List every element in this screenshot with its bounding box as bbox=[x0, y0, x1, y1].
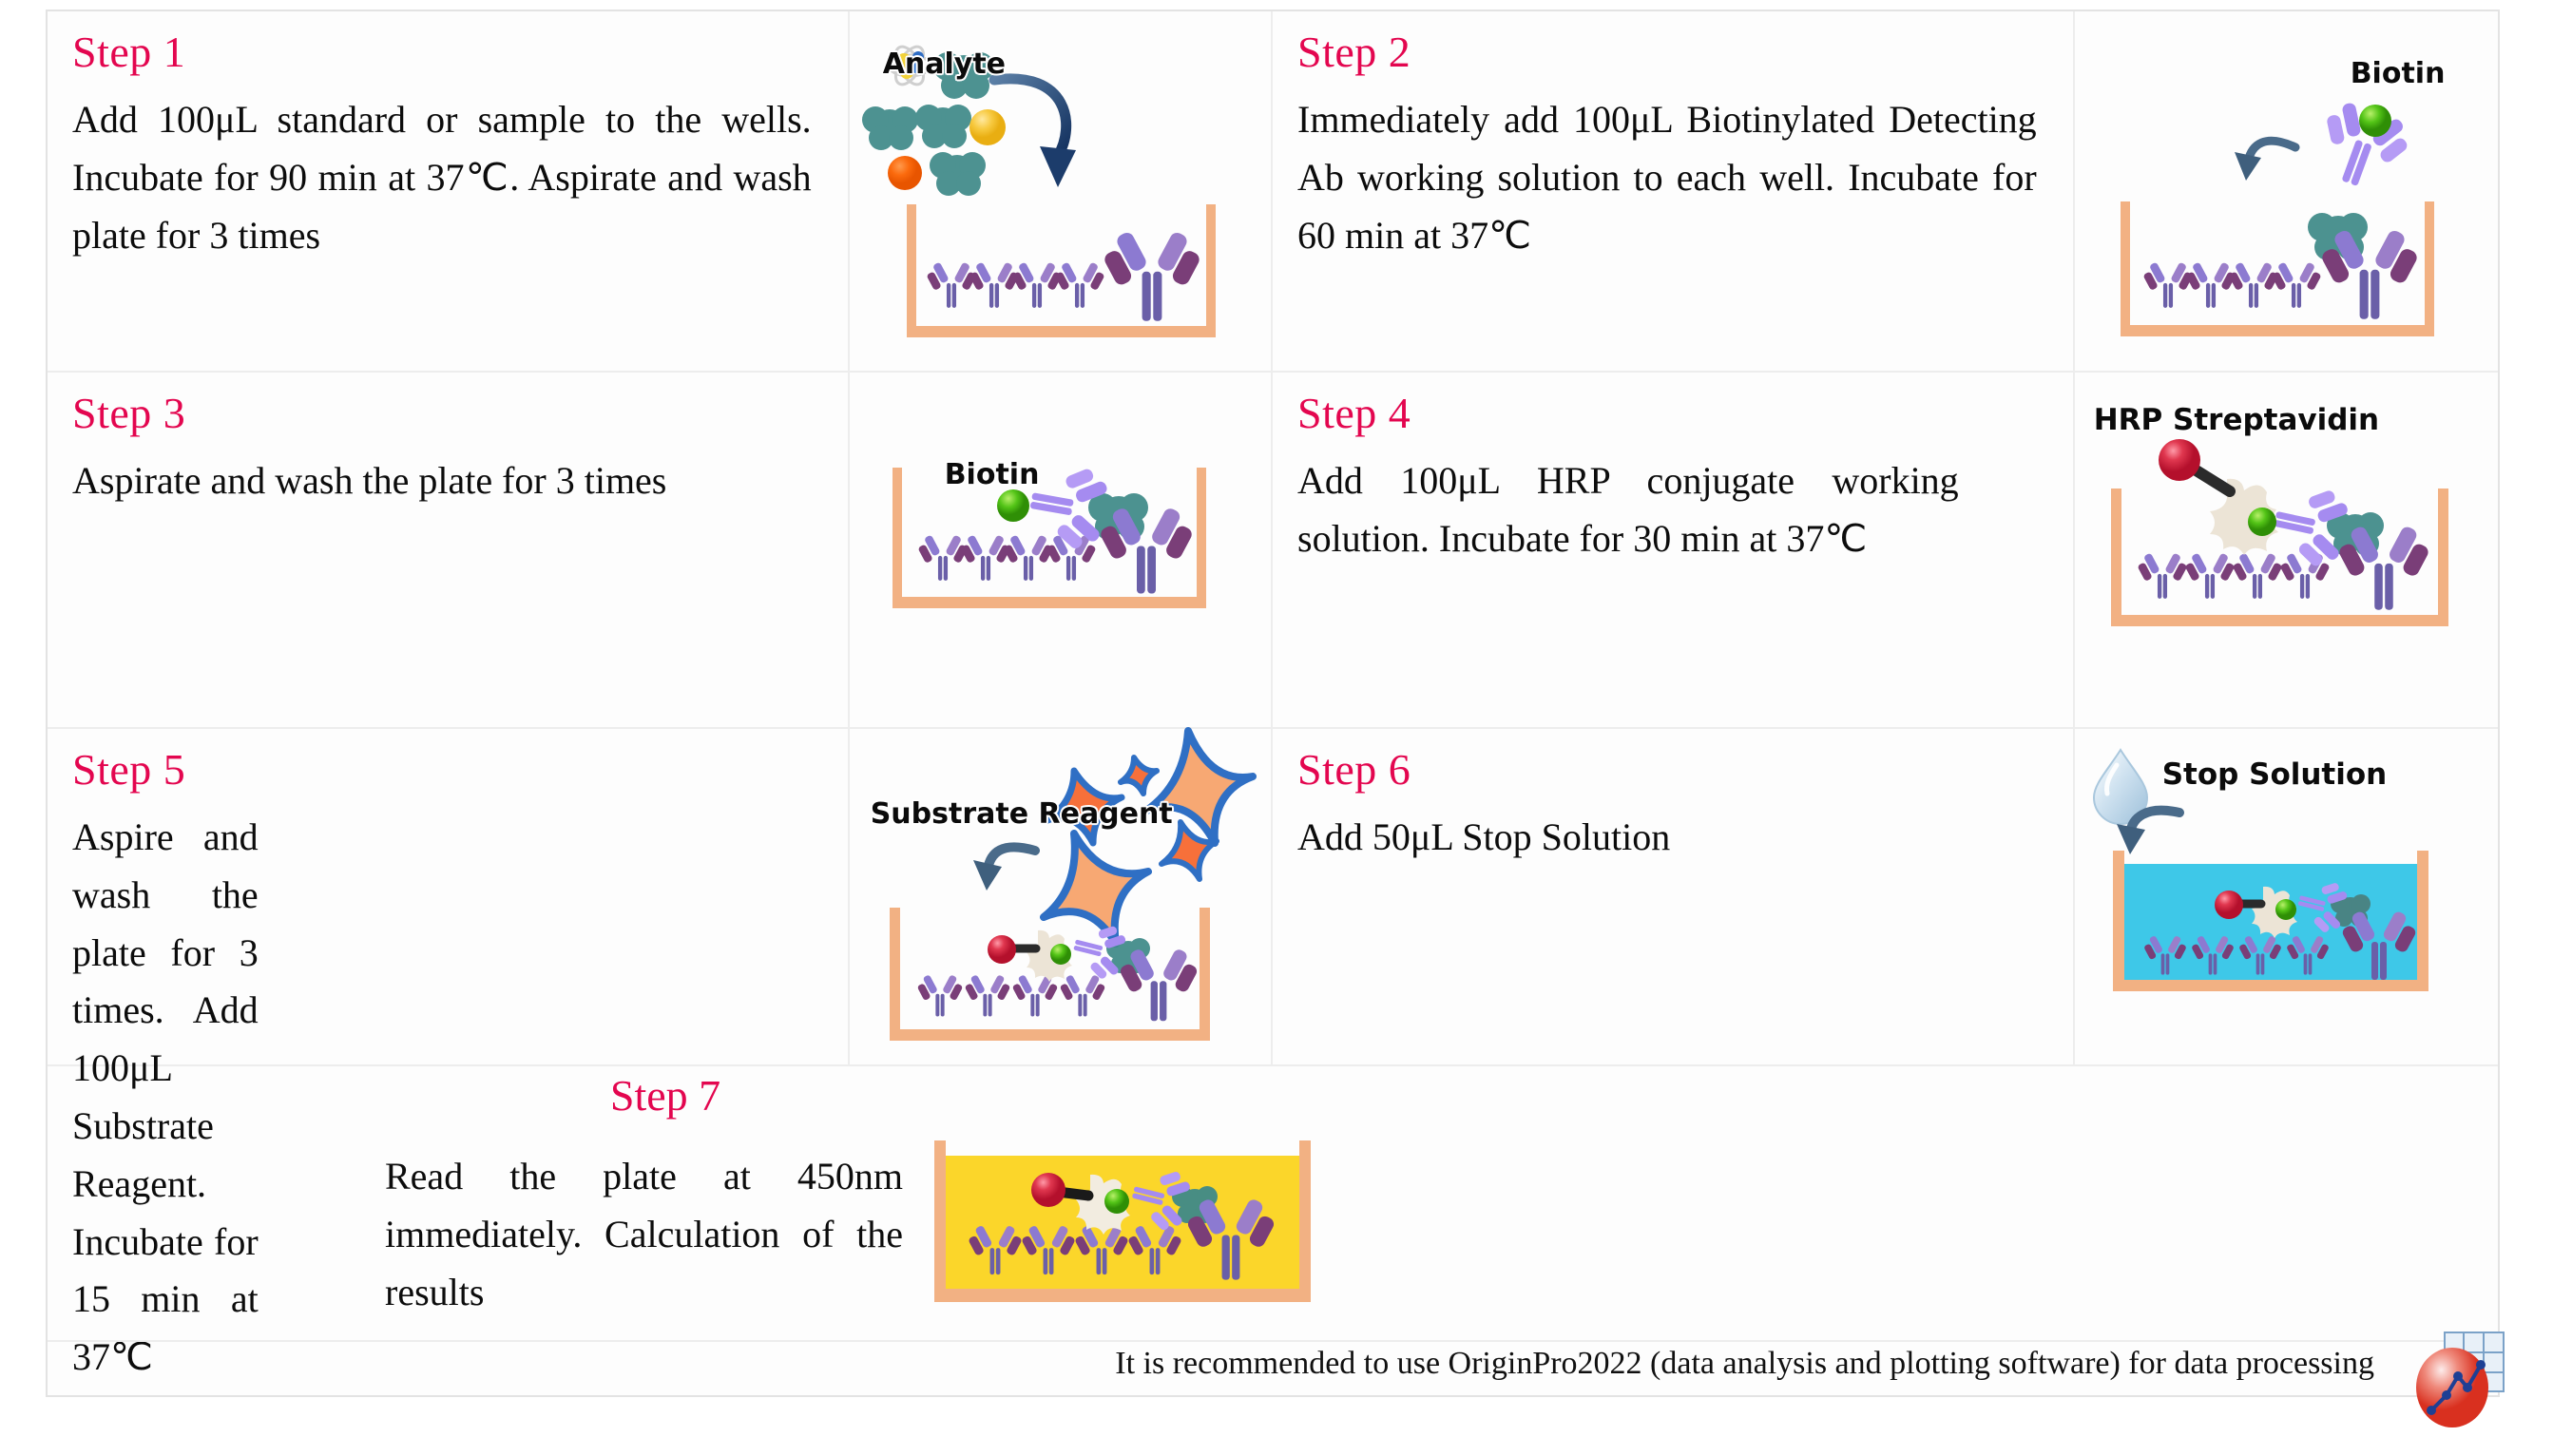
biotin-sphere bbox=[2359, 105, 2391, 137]
hrp-sphere bbox=[988, 935, 1016, 964]
biotin-label: Biotin bbox=[2351, 57, 2446, 90]
step-3-body: Aspirate and wash the plate for 3 times bbox=[72, 452, 812, 510]
steps-row-1: Step 1 Add 100μL standard or sample to t… bbox=[48, 11, 2498, 373]
step-1-illustration-cell: Analyte bbox=[850, 11, 1273, 371]
capture-antibody-row bbox=[2142, 261, 2321, 307]
step-7-title: Step 7 bbox=[48, 1070, 1283, 1121]
stop-solution-illustration: Stop Solution bbox=[2075, 729, 2498, 1064]
capture-antibody-large bbox=[1102, 230, 1201, 321]
yellow-sphere bbox=[969, 109, 1006, 145]
step-4-illustration-cell: HRP Streptavidin bbox=[2075, 373, 2498, 727]
step-7-illustration bbox=[927, 1125, 1131, 1225]
capture-antibody-row bbox=[2137, 552, 2330, 598]
biotin-bound-illustration: Biotin bbox=[850, 373, 1271, 727]
step-6-text-cell: Step 6 Add 50μL Stop Solution bbox=[1273, 729, 2075, 1064]
curved-down-left-arrow-icon bbox=[2235, 141, 2295, 181]
biotin-sphere bbox=[2248, 508, 2276, 536]
orange-sphere bbox=[888, 156, 922, 190]
steps-row-3: Step 5 Aspire and wash the plate for 3 t… bbox=[48, 729, 2498, 1066]
step-7-band: Step 7 Read the plate at 450nm immediate… bbox=[48, 1066, 2498, 1342]
step-2-title: Step 2 bbox=[1297, 27, 1411, 77]
protocol-sheet: Step 1 Add 100μL standard or sample to t… bbox=[46, 10, 2500, 1397]
hrp-sphere bbox=[2159, 439, 2200, 481]
biotin-sphere bbox=[1050, 944, 1071, 965]
step-5-title: Step 5 bbox=[72, 744, 185, 795]
capture-antibody-row bbox=[926, 261, 1104, 307]
step-2-text-cell: Step 2 Immediately add 100μL Biotinylate… bbox=[1273, 11, 2075, 371]
capture-antibody-row bbox=[916, 974, 1105, 1016]
substrate-sparkle-group bbox=[1044, 731, 1253, 944]
step-7-body: Read the plate at 450nm immediately. Cal… bbox=[385, 1148, 903, 1321]
footer-note: It is recommended to use OriginPro2022 (… bbox=[48, 1346, 2374, 1382]
step-4-title: Step 4 bbox=[1297, 388, 1411, 438]
footer-divider bbox=[48, 1340, 2498, 1342]
step-4-body: Add 100μL HRP conjugate working solution… bbox=[1297, 452, 1959, 568]
step-1-text-cell: Step 1 Add 100μL standard or sample to t… bbox=[48, 11, 850, 371]
step-5-text-cell: Step 5 Aspire and wash the plate for 3 t… bbox=[48, 729, 850, 1064]
originpro-logo bbox=[2403, 1329, 2507, 1433]
step-3-title: Step 3 bbox=[72, 388, 185, 438]
step-2-body: Immediately add 100μL Biotinylated Detec… bbox=[1297, 91, 2037, 264]
step-6-title: Step 6 bbox=[1297, 744, 1411, 795]
biotin-antibody-illustration: Biotin bbox=[2075, 11, 2498, 371]
step-5-illustration-cell: Substrate Reagent bbox=[850, 729, 1273, 1064]
biotin-sphere bbox=[997, 489, 1029, 522]
biotin-sphere bbox=[1104, 1189, 1129, 1214]
steps-row-2: Step 3 Aspirate and wash the plate for 3… bbox=[48, 373, 2498, 729]
step-6-illustration-cell: Stop Solution bbox=[2075, 729, 2498, 1064]
stop-solution-label: Stop Solution bbox=[2162, 757, 2388, 792]
hrp-sphere bbox=[2215, 891, 2243, 919]
step-2-illustration-cell: Biotin bbox=[2075, 11, 2498, 371]
microplate-well bbox=[2121, 201, 2434, 336]
step-1-title: Step 1 bbox=[72, 27, 185, 77]
hrp-streptavidin-label: HRP Streptavidin bbox=[2094, 403, 2379, 437]
substrate-reagent-illustration: Substrate Reagent bbox=[850, 729, 1271, 1064]
step-1-body: Add 100μL standard or sample to the well… bbox=[72, 91, 812, 264]
step-3-illustration-cell: Biotin bbox=[850, 373, 1273, 727]
curved-down-right-arrow-icon bbox=[994, 79, 1076, 187]
curved-down-left-arrow-icon bbox=[973, 847, 1035, 891]
microplate-well bbox=[907, 204, 1216, 337]
analyte-added-illustration: Analyte bbox=[850, 11, 1271, 371]
biotinylated-detecting-antibody bbox=[2307, 94, 2417, 199]
substrate-reagent-label: Substrate Reagent bbox=[871, 797, 1173, 831]
biotin-label: Biotin bbox=[945, 458, 1040, 491]
analyte-label: Analyte bbox=[883, 48, 1006, 81]
step-4-text-cell: Step 4 Add 100μL HRP conjugate working s… bbox=[1273, 373, 2075, 727]
steps-grid: Step 1 Add 100μL standard or sample to t… bbox=[48, 11, 2498, 1066]
biotin-sphere bbox=[2275, 899, 2296, 920]
hrp-streptavidin-illustration: HRP Streptavidin bbox=[2075, 373, 2498, 727]
hrp-sphere bbox=[1031, 1173, 1065, 1207]
step-6-body: Add 50μL Stop Solution bbox=[1297, 809, 2037, 867]
step-3-text-cell: Step 3 Aspirate and wash the plate for 3… bbox=[48, 373, 850, 727]
